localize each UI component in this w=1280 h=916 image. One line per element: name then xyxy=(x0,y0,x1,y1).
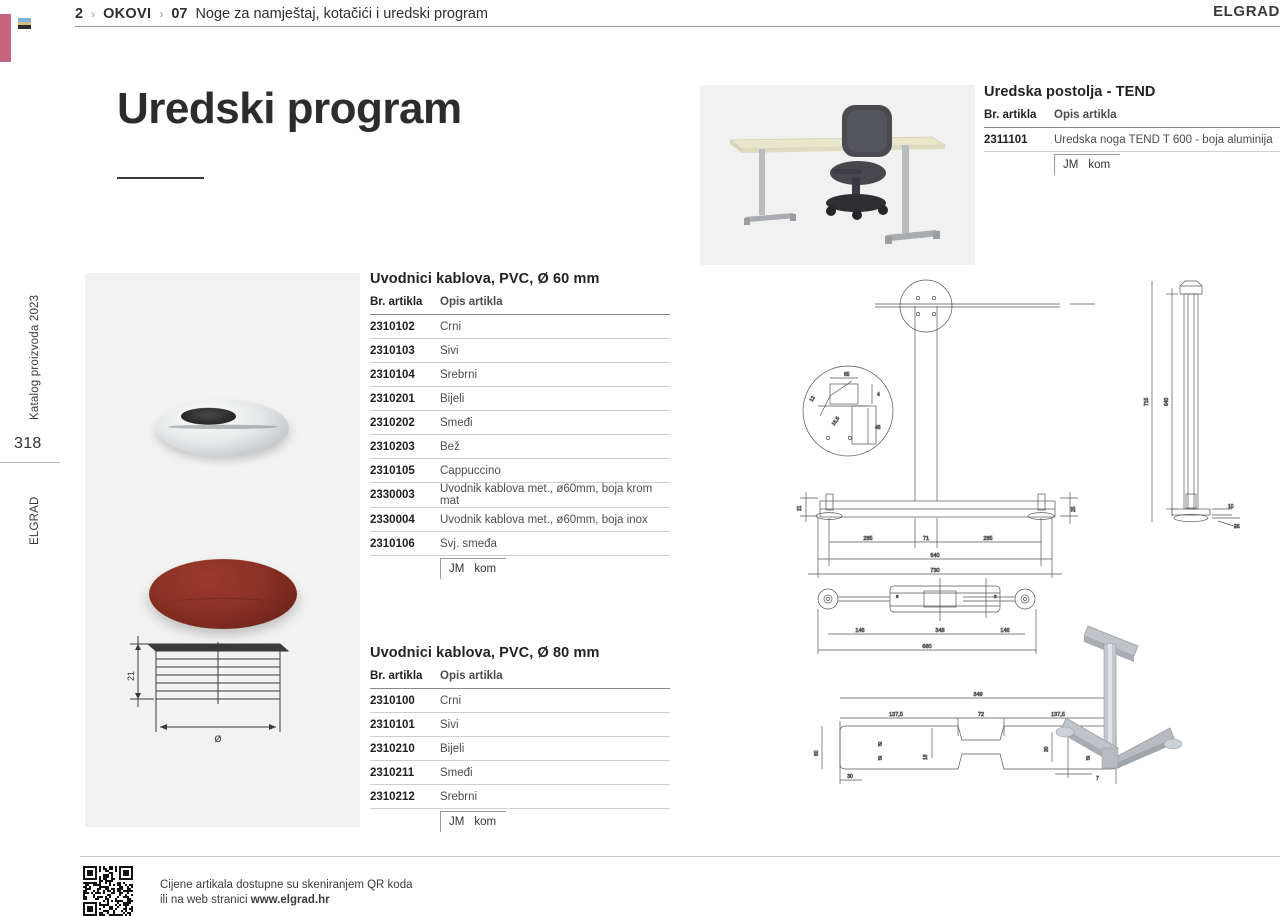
table-row[interactable]: 2310103Sivi xyxy=(370,339,670,363)
table-row[interactable]: 2310105Cappuccino xyxy=(370,459,670,483)
svg-text:715: 715 xyxy=(1144,397,1150,406)
unit-value: kom xyxy=(474,816,496,828)
table-row[interactable]: 2310102Crni xyxy=(370,315,670,339)
svg-text:12: 12 xyxy=(809,395,817,403)
article-description: Crni xyxy=(440,321,670,333)
svg-text:Ø: Ø xyxy=(878,756,882,762)
svg-text:660: 660 xyxy=(922,644,931,650)
table-row[interactable]: 2310210Bijeli xyxy=(370,737,670,761)
article-number: 2310210 xyxy=(370,743,440,755)
page-title: Uredski program xyxy=(117,84,462,134)
svg-text:Ø: Ø xyxy=(878,742,882,748)
table-header: Br. artiklaOpis artikla xyxy=(370,296,670,315)
table-header: Br. artiklaOpis artikla xyxy=(984,109,1280,128)
svg-text:146: 146 xyxy=(1000,628,1009,634)
article-number: 2310201 xyxy=(370,393,440,405)
column-header-code: Br. artikla xyxy=(370,670,440,682)
table-title: Uredska postolja - TEND xyxy=(984,84,1280,100)
table-row[interactable]: 2310101Sivi xyxy=(370,713,670,737)
article-number: 2310105 xyxy=(370,465,440,477)
footer-line-1: Cijene artikala dostupne su skeniranjem … xyxy=(160,878,413,893)
article-description: Srebrni xyxy=(440,369,670,381)
article-description: Cappuccino xyxy=(440,465,670,477)
unit-value: kom xyxy=(474,563,496,575)
column-header-code: Br. artikla xyxy=(370,296,440,308)
article-description: Bež xyxy=(440,441,670,453)
article-number: 2310203 xyxy=(370,441,440,453)
footer-line-2-prefix: ili na web stranici xyxy=(160,894,251,906)
breadcrumb-number: 2 xyxy=(75,6,83,22)
page-header: 2 › OKOVI › 07 Noge za namještaj, kotači… xyxy=(0,0,1280,27)
table-row[interactable]: 2310106Svj. smeđa xyxy=(370,532,670,556)
article-description: Smeđi xyxy=(440,417,670,429)
svg-text:640: 640 xyxy=(930,553,939,559)
svg-text:8: 8 xyxy=(896,594,899,599)
grommet-grey-image xyxy=(157,400,289,456)
breadcrumb: 2 › OKOVI › 07 Noge za namještaj, kotači… xyxy=(75,0,488,27)
article-number: 2310212 xyxy=(370,791,440,803)
table-tend-bases: Uredska postolja - TENDBr. artiklaOpis a… xyxy=(984,84,1280,175)
svg-text:10: 10 xyxy=(1228,504,1234,510)
rail-brand-label: ELGRAD xyxy=(29,345,41,545)
table-row[interactable]: 2310212Srebrni xyxy=(370,785,670,809)
table-row[interactable]: 2310100Crni xyxy=(370,689,670,713)
svg-text:730: 730 xyxy=(930,568,939,574)
office-desk-photo xyxy=(700,85,975,265)
breadcrumb-category[interactable]: OKOVI xyxy=(103,6,151,22)
table-row[interactable]: 2311101Uredska noga TEND T 600 - boja al… xyxy=(984,128,1280,152)
article-number: 2310211 xyxy=(370,767,440,779)
article-number: 2310104 xyxy=(370,369,440,381)
column-header-code: Br. artikla xyxy=(984,109,1054,121)
table-title: Uvodnici kablova, PVC, Ø 60 mm xyxy=(370,271,670,287)
article-description: Bijeli xyxy=(440,743,670,755)
svg-text:349: 349 xyxy=(973,692,982,698)
article-description: Bijeli xyxy=(440,393,670,405)
catalog-page: Katalog proizvoda 2023 318 ELGRAD 2 › OK… xyxy=(0,0,1280,916)
column-header-desc: Opis artikla xyxy=(440,296,670,308)
article-number: 2310102 xyxy=(370,321,440,333)
svg-text:72: 72 xyxy=(978,712,984,718)
header-divider xyxy=(75,26,1280,27)
unit-box: JMkom xyxy=(440,811,506,832)
title-underline xyxy=(117,177,204,179)
article-description: Uvodnik kablova met., ø60mm, boja inox xyxy=(440,514,670,526)
article-description: Uredska noga TEND T 600 - boja aluminija xyxy=(1054,134,1280,146)
unit-label: JM xyxy=(449,816,464,828)
article-description: Svj. smeđa xyxy=(440,538,670,550)
footer-website-link[interactable]: www.elgrad.hr xyxy=(251,894,330,906)
grommet-brown-image xyxy=(149,559,297,629)
article-number: 2310100 xyxy=(370,695,440,707)
unit-box: JMkom xyxy=(1054,154,1120,175)
svg-text:18: 18 xyxy=(923,754,929,760)
svg-text:285: 285 xyxy=(863,536,872,542)
table-row[interactable]: 2310211Smeđi xyxy=(370,761,670,785)
unit-value: kom xyxy=(1088,159,1110,171)
table-row[interactable]: 2310203Bež xyxy=(370,435,670,459)
svg-text:348: 348 xyxy=(935,628,944,634)
header-brand: ELGRAD xyxy=(1213,3,1280,20)
tend-technical-drawings: 65 4 46 12 15,5 xyxy=(700,266,1280,827)
svg-text:640: 640 xyxy=(1164,397,1170,406)
unit-box: JMkom xyxy=(440,558,506,579)
table-title: Uvodnici kablova, PVC, Ø 80 mm xyxy=(370,645,670,661)
footer-line-2: ili na web stranici www.elgrad.hr xyxy=(160,893,413,908)
breadcrumb-section-title: Noge za namještaj, kotačići i uredski pr… xyxy=(195,6,488,22)
article-number: 2310106 xyxy=(370,538,440,550)
svg-text:30: 30 xyxy=(847,774,853,780)
article-description: Sivi xyxy=(440,719,670,731)
breadcrumb-separator-1: › xyxy=(91,7,95,21)
section-height-dim: 21 xyxy=(126,671,136,681)
table-row[interactable]: 2330003Uvodnik kablova met., ø60mm, boja… xyxy=(370,483,670,508)
article-number: 2330004 xyxy=(370,514,440,526)
svg-text:4: 4 xyxy=(877,392,880,398)
article-description: Srebrni xyxy=(440,791,670,803)
svg-text:21: 21 xyxy=(797,505,803,511)
article-number: 2310103 xyxy=(370,345,440,357)
article-description: Uvodnik kablova met., ø60mm, boja krom m… xyxy=(440,483,670,507)
article-number: 2310101 xyxy=(370,719,440,731)
article-description: Crni xyxy=(440,695,670,707)
svg-text:8: 8 xyxy=(994,594,997,599)
footer-divider xyxy=(80,856,1280,857)
table-grommets-80: Uvodnici kablova, PVC, Ø 80 mmBr. artikl… xyxy=(370,645,670,832)
grommet-section-drawing: 21 Ø xyxy=(110,628,320,748)
qr-code[interactable] xyxy=(83,866,133,916)
tend-leg-photo xyxy=(1052,608,1192,818)
table-row[interactable]: 2310104Srebrni xyxy=(370,363,670,387)
unit-label: JM xyxy=(1063,159,1078,171)
left-rail: Katalog proizvoda 2023 318 ELGRAD xyxy=(0,0,60,916)
svg-text:65: 65 xyxy=(844,372,850,378)
svg-text:285: 285 xyxy=(983,536,992,542)
article-number: 2330003 xyxy=(370,489,440,501)
breadcrumb-separator-2: › xyxy=(159,7,163,21)
unit-label: JM xyxy=(449,563,464,575)
svg-text:137,5: 137,5 xyxy=(889,712,903,718)
table-grommets-60: Uvodnici kablova, PVC, Ø 60 mmBr. artikl… xyxy=(370,271,670,579)
breadcrumb-section-code: 07 xyxy=(171,6,187,22)
svg-text:25: 25 xyxy=(1071,506,1077,512)
svg-text:71: 71 xyxy=(923,536,929,542)
section-diameter-dim: Ø xyxy=(214,734,221,744)
column-header-desc: Opis artikla xyxy=(440,670,670,682)
column-header-desc: Opis artikla xyxy=(1054,109,1280,121)
svg-text:15,5: 15,5 xyxy=(831,416,842,428)
table-row[interactable]: 2310202Smeđi xyxy=(370,411,670,435)
table-row[interactable]: 2310201Bijeli xyxy=(370,387,670,411)
table-header: Br. artiklaOpis artikla xyxy=(370,670,670,689)
footer-note: Cijene artikala dostupne su skeniranjem … xyxy=(160,878,413,908)
article-description: Sivi xyxy=(440,345,670,357)
svg-text:30: 30 xyxy=(1044,746,1050,752)
table-row[interactable]: 2330004Uvodnik kablova met., ø60mm, boja… xyxy=(370,508,670,532)
article-number: 2311101 xyxy=(984,134,1054,146)
svg-text:60: 60 xyxy=(814,750,820,756)
svg-text:46: 46 xyxy=(875,425,881,431)
article-description: Smeđi xyxy=(440,767,670,779)
article-number: 2310202 xyxy=(370,417,440,429)
svg-text:146: 146 xyxy=(855,628,864,634)
